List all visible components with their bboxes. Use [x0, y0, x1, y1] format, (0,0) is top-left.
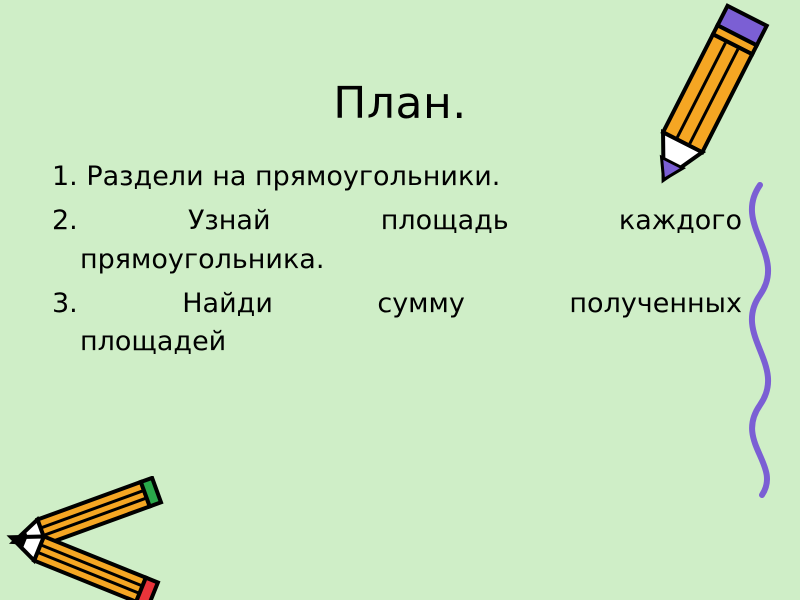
- pencil-icon: [610, 0, 790, 195]
- word-segment: полученных: [569, 285, 742, 323]
- list-item: 3. Найди сумму полученных площадей: [52, 285, 742, 362]
- slide-canvas: План. 1. Раздели на прямоугольники. 2. У…: [0, 0, 800, 600]
- squiggle-icon: [720, 180, 800, 500]
- list-item-line: 3. Найди сумму полученных: [52, 285, 742, 323]
- list-item-line: прямоугольника.: [52, 241, 742, 279]
- word-segment: Узнай: [188, 202, 271, 240]
- list-item-line: 2. Узнай площадь каждого: [52, 202, 742, 240]
- word-segment: сумму: [377, 285, 465, 323]
- pencil-icon: [0, 476, 210, 600]
- word-segment: площадь: [381, 202, 509, 240]
- list-item-line: 1. Раздели на прямоугольники.: [52, 161, 500, 192]
- list-item: 2. Узнай площадь каждого прямоугольника.: [52, 202, 742, 279]
- word-segment: 3.: [52, 285, 78, 323]
- word-segment: Найди: [182, 285, 273, 323]
- list-item-line: площадей: [52, 323, 742, 361]
- word-segment: 2.: [52, 202, 78, 240]
